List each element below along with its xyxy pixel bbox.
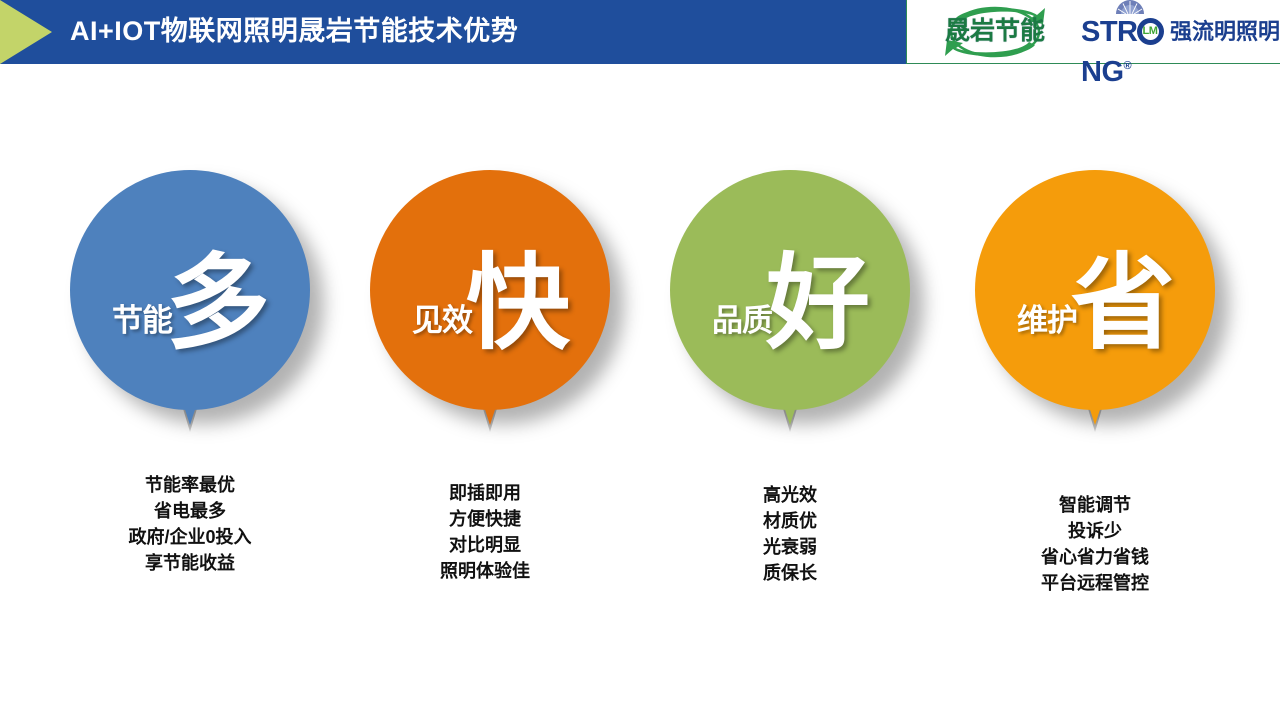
column-item: 省电最多 (40, 498, 340, 524)
pin-small-label: 见效 (412, 295, 472, 340)
advantage-column-3: 高光效 材质优 光衰弱 质保长 (640, 482, 940, 586)
logo-strong-group: STRLMNG® 强流明照明 (1081, 3, 1280, 61)
pin-big-label: 省 (1071, 252, 1173, 356)
advantage-column-4: 智能调节 投诉少 省心省力省钱 平台远程管控 (945, 492, 1245, 596)
column-item: 节能率最优 (40, 472, 340, 498)
pin-big-label: 多 (166, 252, 268, 356)
advantage-text-columns: 节能率最优 省电最多 政府/企业0投入 享节能收益 即插即用 方便快捷 对比明显… (0, 472, 1280, 642)
column-item: 即插即用 (335, 480, 635, 506)
logo-brand-cn2: 强流明照明 (1170, 12, 1280, 52)
column-item: 高光效 (640, 482, 940, 508)
pin-circle: 见效 快 (370, 170, 610, 410)
registered-mark: ® (1124, 60, 1132, 72)
page-header: AI+IOT物联网照明晟岩节能技术优势 晟岩节能 (0, 0, 1280, 64)
column-item: 享节能收益 (40, 550, 340, 576)
column-item: 方便快捷 (335, 506, 635, 532)
column-item: 投诉少 (945, 518, 1245, 544)
pin-circle: 节能 多 (70, 170, 310, 410)
column-item: 照明体验佳 (335, 558, 635, 584)
page-title: AI+IOT物联网照明晟岩节能技术优势 (70, 0, 518, 64)
column-item: 智能调节 (945, 492, 1245, 518)
column-item: 省心省力省钱 (945, 544, 1245, 570)
advantage-pins: 节能 多 见效 快 品质 好 (0, 170, 1280, 440)
pin-small-label: 节能 (112, 295, 172, 340)
column-item: 材质优 (640, 508, 940, 534)
fan-arc-icon (1115, 0, 1145, 14)
pin-big-label: 好 (766, 252, 868, 356)
company-logo: 晟岩节能 STRLMNG® 强流明照明 (906, 0, 1280, 64)
column-item: 质保长 (640, 560, 940, 586)
advantage-pin-4: 维护 省 (975, 170, 1215, 410)
advantage-pin-2: 见效 快 (370, 170, 610, 410)
column-item: 平台远程管控 (945, 570, 1245, 596)
column-item: 政府/企业0投入 (40, 524, 340, 550)
pin-small-label: 品质 (712, 295, 772, 340)
logo-brand-en-prefix: STR (1081, 16, 1138, 48)
pin-circle: 品质 好 (670, 170, 910, 410)
logo-lm-badge-icon: LM (1137, 18, 1164, 45)
advantage-column-1: 节能率最优 省电最多 政府/企业0投入 享节能收益 (40, 472, 340, 576)
advantage-pin-3: 品质 好 (670, 170, 910, 410)
pin-circle: 维护 省 (975, 170, 1215, 410)
pin-small-label: 维护 (1017, 295, 1077, 340)
advantage-column-2: 即插即用 方便快捷 对比明显 照明体验佳 (335, 480, 635, 584)
logo-brand-cn-group: 晟岩节能 (911, 3, 1079, 61)
pin-big-label: 快 (466, 252, 568, 356)
logo-lm-text: LM (1137, 18, 1164, 45)
column-item: 对比明显 (335, 532, 635, 558)
logo-brand-en-suffix: NG (1081, 56, 1124, 88)
advantage-pin-1: 节能 多 (70, 170, 310, 410)
column-item: 光衰弱 (640, 534, 940, 560)
logo-brand-cn: 晟岩节能 (913, 16, 1077, 46)
